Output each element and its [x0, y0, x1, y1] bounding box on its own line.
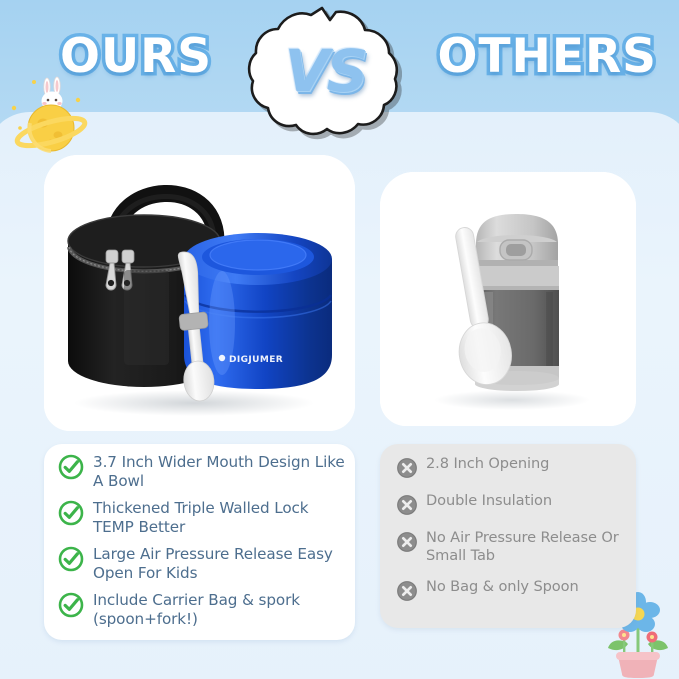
cross-circle-icon — [396, 580, 418, 602]
list-item: No Bag & only Spoon — [380, 578, 636, 602]
list-item: 2.8 Inch Opening — [380, 455, 636, 479]
list-item: 3.7 Inch Wider Mouth Design Like A Bowl — [44, 453, 355, 490]
feature-text: No Air Pressure Release Or Small Tab — [426, 529, 626, 565]
check-circle-icon — [58, 454, 84, 480]
product-image-ours: DIGJUMER — [44, 155, 355, 431]
vs-badge: VS — [244, 6, 402, 142]
svg-text:DIGJUMER: DIGJUMER — [229, 355, 283, 365]
list-item: Large Air Pressure Release Easy Open For… — [44, 545, 355, 582]
header: OURS OTHERS VS — [0, 0, 679, 130]
features-card-others: 2.8 Inch Opening Double Insulation — [380, 444, 636, 628]
list-item: No Air Pressure Release Or Small Tab — [380, 529, 636, 565]
feature-text: 3.7 Inch Wider Mouth Design Like A Bowl — [93, 453, 345, 490]
header-title-others: OTHERS — [438, 29, 658, 84]
check-circle-icon — [58, 546, 84, 572]
cross-circle-icon — [396, 531, 418, 553]
feature-text: Large Air Pressure Release Easy Open For… — [93, 545, 345, 582]
cross-circle-icon — [396, 457, 418, 479]
feature-text: Thickened Triple Walled Lock TEMP Better — [93, 499, 345, 536]
comparison-infographic: OURS OTHERS VS — [0, 0, 679, 679]
feature-text: No Bag & only Spoon — [426, 578, 579, 596]
feature-list-others: 2.8 Inch Opening Double Insulation — [380, 444, 636, 602]
list-item: Include Carrier Bag & spork (spoon+fork!… — [44, 591, 355, 628]
list-item: Thickened Triple Walled Lock TEMP Better — [44, 499, 355, 536]
feature-list-ours: 3.7 Inch Wider Mouth Design Like A Bowl … — [44, 444, 355, 628]
features-card-ours: 3.7 Inch Wider Mouth Design Like A Bowl … — [44, 444, 355, 640]
cross-circle-icon — [396, 494, 418, 516]
rabbit-on-planet-icon — [6, 72, 98, 156]
feature-text: 2.8 Inch Opening — [426, 455, 549, 473]
vs-label: VS — [244, 6, 402, 142]
feature-text: Double Insulation — [426, 492, 552, 510]
check-circle-icon — [58, 500, 84, 526]
feature-text: Include Carrier Bag & spork (spoon+fork!… — [93, 591, 345, 628]
product-image-others — [380, 172, 636, 426]
check-circle-icon — [58, 592, 84, 618]
list-item: Double Insulation — [380, 492, 636, 516]
